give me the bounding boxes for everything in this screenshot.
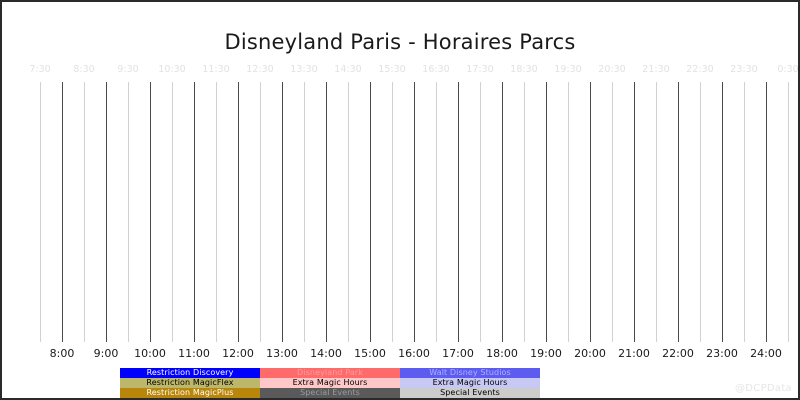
x-tick-label-top: 15:30 <box>378 64 405 76</box>
x-tick-label-bottom: 12:00 <box>222 347 254 360</box>
x-tick-label-bottom: 14:00 <box>310 347 342 360</box>
gridline-major <box>546 82 547 342</box>
gridline-major <box>282 82 283 342</box>
x-tick-label-top: 0:30 <box>777 64 798 76</box>
x-tick-label-top: 18:30 <box>510 64 537 76</box>
gridline-minor <box>612 82 613 342</box>
x-tick-label-bottom: 18:00 <box>486 347 518 360</box>
gridline-major <box>62 82 63 342</box>
x-tick-label-top: 9:30 <box>117 64 138 76</box>
chart-title: Disneyland Paris - Horaires Parcs <box>2 30 798 54</box>
gridline-minor <box>568 82 569 342</box>
x-tick-label-top: 7:30 <box>29 64 50 76</box>
gridline-minor <box>392 82 393 342</box>
gridline-major <box>106 82 107 342</box>
x-tick-label-bottom: 15:00 <box>354 347 386 360</box>
gridline-minor <box>260 82 261 342</box>
x-tick-label-bottom: 17:00 <box>442 347 474 360</box>
legend-entry[interactable]: Disneyland Park <box>260 368 400 378</box>
gridline-minor <box>436 82 437 342</box>
legend-column-restrictions: Restriction DiscoveryRestriction MagicFl… <box>120 368 260 398</box>
gridline-major <box>722 82 723 342</box>
gridline-minor <box>348 82 349 342</box>
gridline-major <box>238 82 239 342</box>
legend-entry[interactable]: Walt Disney Studios <box>400 368 540 378</box>
x-tick-label-bottom: 8:00 <box>50 347 75 360</box>
chart-screenshot: Disneyland Paris - Horaires Parcs 7:308:… <box>0 0 800 400</box>
legend-entry[interactable]: Restriction Discovery <box>120 368 260 378</box>
x-tick-label-bottom: 24:00 <box>750 347 782 360</box>
gridline-minor <box>480 82 481 342</box>
legend-entry[interactable]: Extra Magic Hours <box>400 378 540 388</box>
x-tick-label-top: 20:30 <box>598 64 625 76</box>
gridline-major <box>502 82 503 342</box>
gridline-minor <box>524 82 525 342</box>
gridline-major <box>590 82 591 342</box>
x-tick-label-bottom: 10:00 <box>134 347 166 360</box>
gridline-major <box>678 82 679 342</box>
gridline-major <box>150 82 151 342</box>
gridline-minor <box>216 82 217 342</box>
x-tick-label-top: 22:30 <box>686 64 713 76</box>
x-tick-label-bottom: 22:00 <box>662 347 694 360</box>
x-tick-label-bottom: 21:00 <box>618 347 650 360</box>
chart-legend: Restriction DiscoveryRestriction MagicFl… <box>120 368 540 398</box>
x-tick-label-top: 11:30 <box>202 64 229 76</box>
gridline-major <box>194 82 195 342</box>
x-tick-label-bottom: 20:00 <box>574 347 606 360</box>
gridline-minor <box>656 82 657 342</box>
gridline-minor <box>304 82 305 342</box>
watermark: @DCPData <box>735 383 792 394</box>
legend-entry[interactable]: Restriction MagicFlex <box>120 378 260 388</box>
x-tick-label-top: 8:30 <box>73 64 94 76</box>
legend-entry[interactable]: Special Events <box>400 388 540 398</box>
x-tick-label-bottom: 9:00 <box>94 347 119 360</box>
gridline-minor <box>744 82 745 342</box>
gridline-minor <box>84 82 85 342</box>
x-tick-label-bottom: 19:00 <box>530 347 562 360</box>
legend-column-disneyland-park: Disneyland ParkExtra Magic HoursSpecial … <box>260 368 400 398</box>
legend-column-walt-disney-studios: Walt Disney StudiosExtra Magic HoursSpec… <box>400 368 540 398</box>
x-tick-label-top: 14:30 <box>334 64 361 76</box>
x-tick-label-top: 23:30 <box>730 64 757 76</box>
gridline-major <box>458 82 459 342</box>
gridline-major <box>370 82 371 342</box>
x-tick-label-top: 10:30 <box>158 64 185 76</box>
x-tick-label-top: 12:30 <box>246 64 273 76</box>
x-tick-label-top: 21:30 <box>642 64 669 76</box>
gridline-major <box>766 82 767 342</box>
x-tick-label-top: 13:30 <box>290 64 317 76</box>
gridline-minor <box>700 82 701 342</box>
x-tick-label-bottom: 13:00 <box>266 347 298 360</box>
gridline-major <box>634 82 635 342</box>
gridline-minor <box>128 82 129 342</box>
gridline-major <box>326 82 327 342</box>
x-tick-label-top: 17:30 <box>466 64 493 76</box>
x-tick-label-bottom: 23:00 <box>706 347 738 360</box>
legend-entry[interactable]: Extra Magic Hours <box>260 378 400 388</box>
gridline-minor <box>788 82 789 342</box>
x-tick-label-bottom: 11:00 <box>178 347 210 360</box>
gridline-minor <box>172 82 173 342</box>
legend-entry[interactable]: Restriction MagicPlus <box>120 388 260 398</box>
gridline-minor <box>40 82 41 342</box>
plot-area: 7:308:309:3010:3011:3012:3013:3014:3015:… <box>2 64 800 359</box>
legend-entry[interactable]: Special Events <box>260 388 400 398</box>
gridline-major <box>414 82 415 342</box>
x-tick-label-top: 19:30 <box>554 64 581 76</box>
x-tick-label-bottom: 16:00 <box>398 347 430 360</box>
x-tick-label-top: 16:30 <box>422 64 449 76</box>
